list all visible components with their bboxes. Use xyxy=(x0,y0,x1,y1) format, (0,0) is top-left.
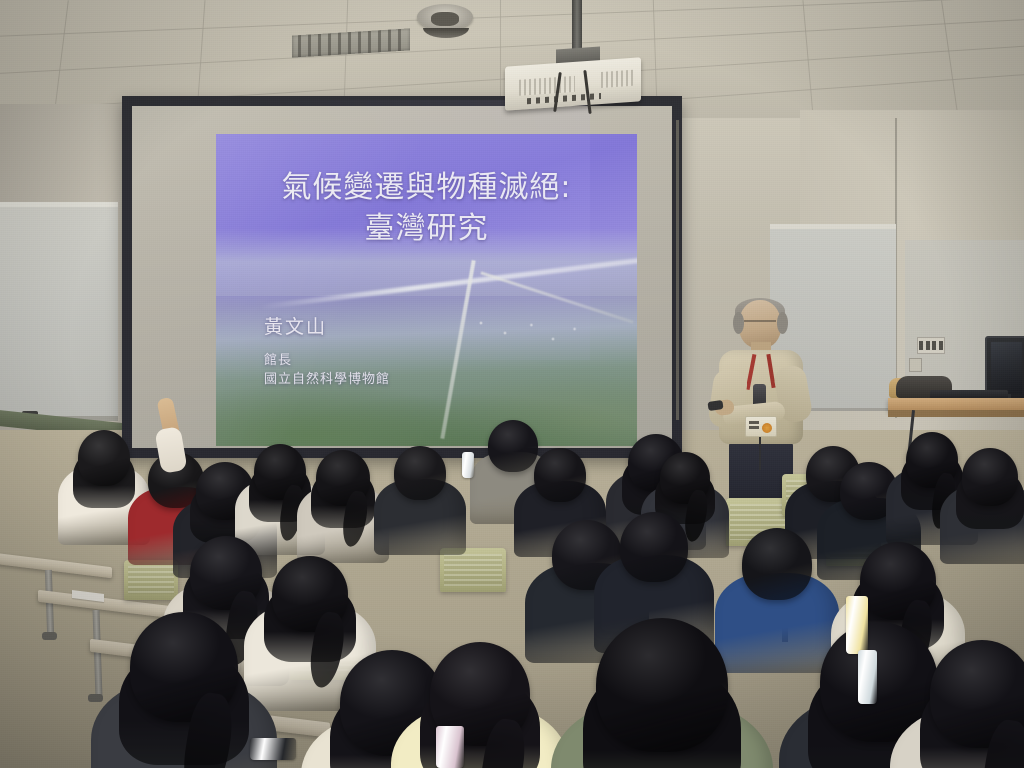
presenter xyxy=(705,300,815,500)
projector-vent xyxy=(519,76,575,96)
slide-title: 氣候變遷與物種滅絕: 臺灣研究 xyxy=(216,168,637,249)
desk-foot xyxy=(88,694,103,702)
water-bottle-front xyxy=(462,452,474,478)
av-desk xyxy=(888,398,1024,410)
projector-vent-secondary xyxy=(601,70,633,88)
presenter-hair-left xyxy=(733,312,744,334)
water-bottle-clear xyxy=(858,650,877,704)
projector-mount-pole xyxy=(572,0,582,52)
person-head xyxy=(488,420,538,472)
av-desk-edge xyxy=(888,410,1024,417)
person-head xyxy=(620,512,688,582)
person-head xyxy=(962,448,1018,506)
glasses-icon xyxy=(744,320,776,330)
slide-author: 黃文山 xyxy=(264,312,327,339)
projection-screen: 氣候變遷與物種滅絕: 臺灣研究 黃文山 館長 國立自然科學博物館 xyxy=(122,96,682,458)
screen-surface: 氣候變遷與物種滅絕: 臺灣研究 黃文山 館長 國立自然科學博物館 xyxy=(132,106,672,448)
presenter-hair-right xyxy=(777,312,788,334)
slide-affiliation-block: 館長 國立自然科學博物館 xyxy=(264,352,390,390)
thermos-pink xyxy=(436,726,464,768)
person-head xyxy=(742,528,812,600)
whiteboard-left xyxy=(0,206,118,421)
slide-title-line1: 氣候變遷與物種滅絕: xyxy=(216,168,637,209)
person-head xyxy=(596,618,728,752)
classroom-photo: 氣候變遷與物種滅絕: 臺灣研究 黃文山 館長 國立自然科學博物館 xyxy=(0,0,1024,768)
whiteboard-top-rail xyxy=(0,202,118,207)
ceiling-speaker-icon xyxy=(417,4,473,30)
desk-foot xyxy=(42,632,57,640)
light-switch-panel[interactable] xyxy=(917,337,945,354)
slide-title-line2: 臺灣研究 xyxy=(216,209,637,250)
wall-cable xyxy=(676,120,679,420)
person-head xyxy=(78,430,130,486)
presentation-slide: 氣候變遷與物種滅絕: 臺灣研究 黃文山 館長 國立自然科學博物館 xyxy=(216,134,637,446)
slide-buildings xyxy=(469,315,589,355)
person-head xyxy=(534,448,586,502)
whiteboard-top-rail xyxy=(770,224,896,229)
water-bottle-yellow xyxy=(846,596,868,654)
slide-affiliation: 國立自然科學博物館 xyxy=(264,371,390,390)
person-head xyxy=(394,446,446,500)
phone-on-desk xyxy=(250,738,296,760)
chair xyxy=(124,560,178,600)
wall-outlet[interactable] xyxy=(909,358,922,372)
slide-role: 館長 xyxy=(264,352,390,371)
name-badge xyxy=(745,416,777,437)
